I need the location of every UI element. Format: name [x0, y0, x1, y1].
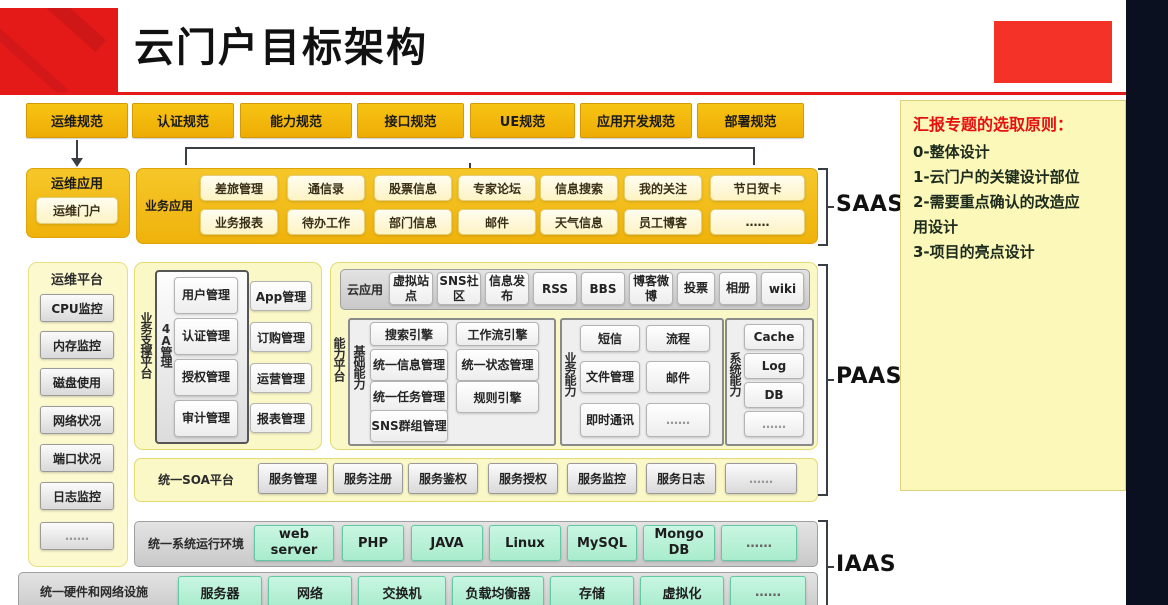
saas-item[interactable]: ……	[710, 209, 805, 235]
runtime-item[interactable]: ……	[721, 525, 797, 561]
standard-box-5[interactable]: 应用开发规范	[580, 103, 692, 138]
saas-bracket-tick	[826, 206, 834, 208]
business-capability-item[interactable]: 短信	[580, 325, 640, 352]
hardware-item[interactable]: 服务器	[178, 576, 262, 605]
ops-platform-item[interactable]: 内存监控	[40, 331, 114, 359]
saas-item[interactable]: 我的关注	[624, 175, 702, 201]
fourA-item[interactable]: 用户管理	[174, 277, 238, 314]
runtime-item[interactable]: Linux	[489, 525, 561, 561]
fourA-label: 4A管理	[159, 322, 172, 388]
standard-label: 应用开发规范	[597, 111, 675, 130]
system-capability-item[interactable]: ……	[744, 411, 804, 437]
biz-support-item[interactable]: 运营管理	[250, 363, 312, 393]
basic-capability-item[interactable]: 搜索引擎	[370, 322, 448, 346]
note-line: 用设计	[913, 216, 1113, 238]
runtime-item[interactable]: JAVA	[411, 525, 483, 561]
saas-item[interactable]: 信息搜索	[540, 175, 618, 201]
slide-canvas: 云门户目标架构 运维规范 认证规范 能力规范 接口规范 UE规范 应用开发规范 …	[0, 0, 1168, 605]
soa-item[interactable]: 服务授权	[488, 463, 558, 494]
cloud-app-label: 云应用	[344, 279, 386, 299]
runtime-label: 统一系统运行环境	[140, 533, 252, 553]
standard-label: 接口规范	[384, 111, 436, 130]
hardware-item[interactable]: 负载均衡器	[452, 576, 544, 605]
standard-label: 认证规范	[157, 111, 209, 130]
soa-item[interactable]: 服务注册	[333, 463, 403, 494]
tier-label-iaas: IAAS	[836, 552, 896, 577]
runtime-item[interactable]: PHP	[342, 525, 404, 561]
fourA-item[interactable]: 授权管理	[174, 359, 238, 396]
soa-item[interactable]: 服务鉴权	[408, 463, 478, 494]
standard-box-0[interactable]: 运维规范	[26, 103, 128, 138]
standard-box-6[interactable]: 部署规范	[697, 103, 804, 138]
business-capability-item[interactable]: 即时通讯	[580, 403, 640, 437]
cloud-app-item[interactable]: 博客微博	[629, 272, 673, 305]
ops-standard-arrow-head	[71, 158, 83, 167]
system-capability-item[interactable]: Log	[744, 353, 804, 379]
standard-label: 能力规范	[270, 111, 322, 130]
saas-item[interactable]: 专家论坛	[458, 175, 536, 201]
iaas-bracket	[818, 520, 828, 605]
hardware-item[interactable]: 虚拟化	[640, 576, 724, 605]
fourA-item[interactable]: 审计管理	[174, 400, 238, 437]
cloud-app-item[interactable]: 投票	[677, 272, 715, 305]
standard-label: UE规范	[500, 111, 545, 130]
runtime-item[interactable]: web server	[254, 525, 334, 561]
tier-label-saas: SAAS	[836, 192, 904, 217]
soa-item[interactable]: 服务日志	[646, 463, 716, 494]
note-title: 汇报专题的选取原则：	[913, 111, 1113, 135]
paas-bracket-tick	[826, 379, 834, 381]
fourA-item[interactable]: 认证管理	[174, 318, 238, 355]
runtime-item[interactable]: MySQL	[567, 525, 637, 561]
system-capability-item[interactable]: DB	[744, 382, 804, 408]
standard-box-4[interactable]: UE规范	[470, 103, 575, 138]
saas-item[interactable]: 股票信息	[374, 175, 452, 201]
ops-platform-item[interactable]: 端口状况	[40, 444, 114, 472]
header-rule	[0, 92, 1168, 95]
ops-platform-item[interactable]: 磁盘使用	[40, 368, 114, 396]
standard-box-2[interactable]: 能力规范	[240, 103, 352, 138]
saas-item[interactable]: 部门信息	[374, 209, 452, 235]
biz-support-label: 业务支撑平台	[138, 312, 152, 404]
hardware-label: 统一硬件和网络设施	[24, 581, 164, 601]
hardware-item[interactable]: 交换机	[358, 576, 446, 605]
saas-item[interactable]: 通信录	[287, 175, 365, 201]
cloud-app-item[interactable]: 信息发布	[485, 272, 529, 305]
note-line: 3-项目的亮点设计	[913, 241, 1113, 263]
cloud-app-item[interactable]: 虚拟站点	[389, 272, 433, 305]
ops-platform-title: 运维平台	[28, 268, 126, 288]
biz-app-title: 业务应用	[141, 190, 197, 220]
note-line: 1-云门户的关键设计部位	[913, 166, 1113, 188]
basic-capability-item[interactable]: SNS群组管理	[370, 410, 448, 442]
standard-box-1[interactable]: 认证规范	[132, 103, 234, 138]
capability-platform-label: 能力平台	[332, 337, 345, 389]
soa-item[interactable]: 服务管理	[258, 463, 328, 494]
soa-label: 统一SOA平台	[140, 469, 252, 489]
runtime-item[interactable]: Mongo DB	[643, 525, 715, 561]
note-line: 0-整体设计	[913, 141, 1113, 163]
note-line: 2-需要重点确认的改造应	[913, 191, 1113, 213]
cloud-app-item[interactable]: BBS	[581, 272, 625, 305]
biz-support-item[interactable]: 订购管理	[250, 322, 312, 352]
basic-capability-label: 基础能力	[352, 345, 365, 397]
tier-label-paas: PAAS	[836, 364, 902, 389]
saas-item[interactable]: 邮件	[458, 209, 536, 235]
page-title: 云门户目标架构	[134, 22, 428, 74]
business-capability-item[interactable]: 邮件	[646, 361, 710, 393]
basic-capability-item[interactable]: 规则引擎	[456, 381, 539, 413]
ops-platform-item[interactable]: 日志监控	[40, 482, 114, 510]
biz-support-item[interactable]: App管理	[250, 281, 312, 311]
standard-label: 部署规范	[724, 111, 776, 130]
business-capability-item[interactable]: 流程	[646, 325, 710, 352]
hardware-item[interactable]: 网络	[268, 576, 352, 605]
soa-item[interactable]: ……	[725, 463, 797, 494]
hardware-item[interactable]: ……	[730, 576, 806, 605]
basic-capability-item[interactable]: 统一信息管理	[370, 349, 448, 381]
hardware-item[interactable]: 存储	[550, 576, 634, 605]
standard-label: 运维规范	[51, 111, 103, 130]
system-capability-item[interactable]: Cache	[744, 324, 804, 350]
basic-capability-item[interactable]: 统一任务管理	[370, 381, 448, 413]
saas-item[interactable]: 业务报表	[200, 209, 278, 235]
business-capability-item[interactable]: ……	[646, 403, 710, 437]
ops-platform-item[interactable]: ……	[40, 522, 114, 550]
basic-capability-item[interactable]: 工作流引擎	[456, 322, 539, 346]
ops-platform-item[interactable]: 网络状况	[40, 406, 114, 434]
saas-item[interactable]: 待办工作	[287, 209, 365, 235]
system-capability-label: 系统能力	[728, 352, 741, 404]
cloud-app-item[interactable]: RSS	[533, 272, 577, 305]
saas-item[interactable]: 天气信息	[540, 209, 618, 235]
cloud-app-item[interactable]: 相册	[719, 272, 757, 305]
cloud-app-item[interactable]: wiki	[761, 272, 804, 305]
header-red-block	[0, 8, 118, 92]
header-red-square	[994, 21, 1112, 83]
biz-support-item[interactable]: 报表管理	[250, 403, 312, 433]
saas-item[interactable]: 节日贺卡	[710, 175, 805, 201]
standard-box-3[interactable]: 接口规范	[357, 103, 464, 138]
business-capability-label: 业务能力	[563, 352, 576, 404]
cloud-app-item[interactable]: SNS社区	[437, 272, 481, 305]
ops-app-title: 运维应用	[26, 172, 128, 192]
ops-platform-item[interactable]: CPU监控	[40, 294, 114, 322]
note-panel: 汇报专题的选取原则： 0-整体设计 1-云门户的关键设计部位 2-需要重点确认的…	[900, 100, 1126, 491]
basic-capability-item[interactable]: 统一状态管理	[456, 349, 539, 381]
right-dark-edge	[1126, 0, 1168, 605]
ops-portal-item[interactable]: 运维门户	[36, 197, 118, 224]
iaas-bracket-tick	[826, 566, 834, 568]
saas-item[interactable]: 员工博客	[624, 209, 702, 235]
soa-item[interactable]: 服务监控	[567, 463, 637, 494]
business-capability-item[interactable]: 文件管理	[580, 361, 640, 393]
saas-item[interactable]: 差旅管理	[200, 175, 278, 201]
